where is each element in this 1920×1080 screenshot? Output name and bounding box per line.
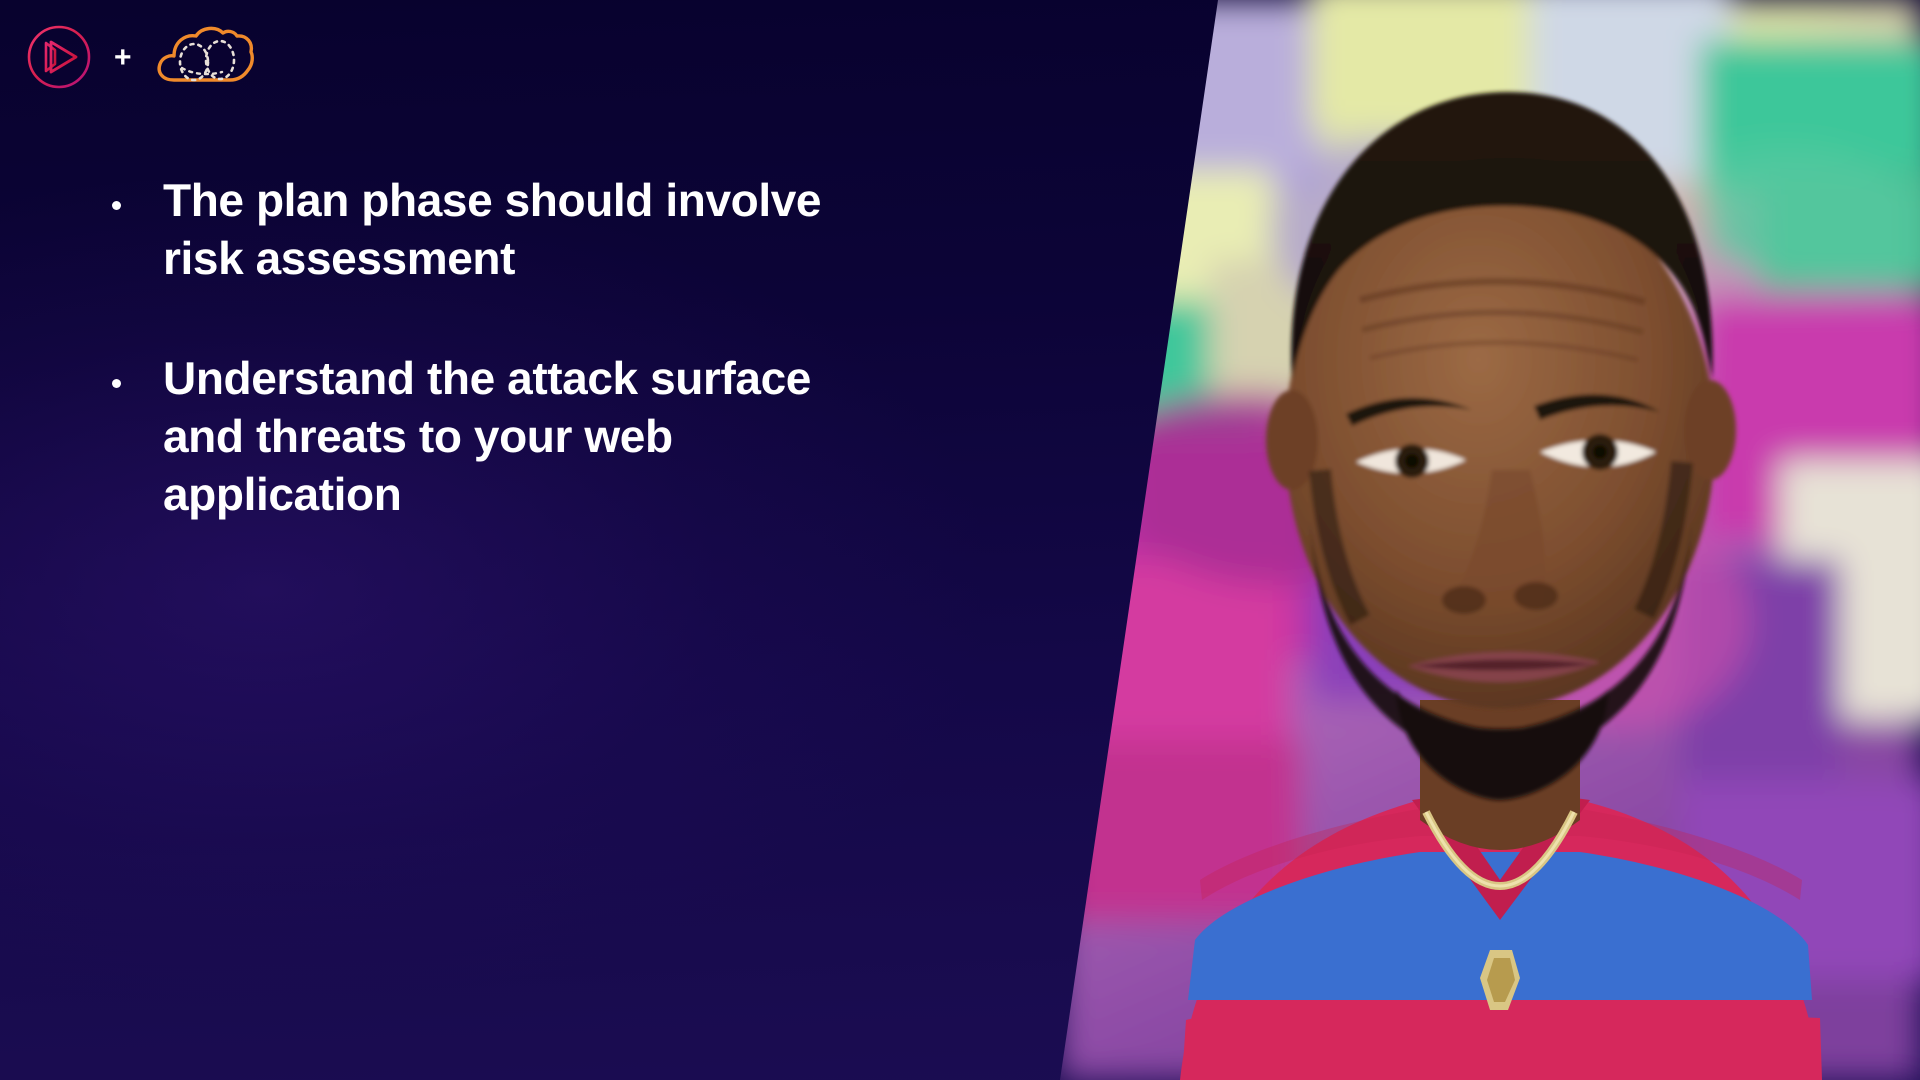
- bullet-list: The plan phase should involve risk asses…: [112, 172, 892, 524]
- list-item: Understand the attack surface and threat…: [112, 350, 892, 524]
- list-item: The plan phase should involve risk asses…: [112, 172, 892, 288]
- plus-separator: +: [114, 43, 132, 73]
- play-arrow-circle-icon: [24, 22, 94, 92]
- bullet-dot-icon: [112, 379, 121, 388]
- bullet-text: Understand the attack surface and threat…: [163, 350, 863, 524]
- bullet-text: The plan phase should involve risk asses…: [163, 172, 863, 288]
- slide-canvas: + The plan phase should involve risk ass…: [0, 0, 1920, 1080]
- cloud-dotted-icon: [152, 22, 256, 92]
- logo-bar: +: [24, 14, 256, 100]
- bullet-dot-icon: [112, 201, 121, 210]
